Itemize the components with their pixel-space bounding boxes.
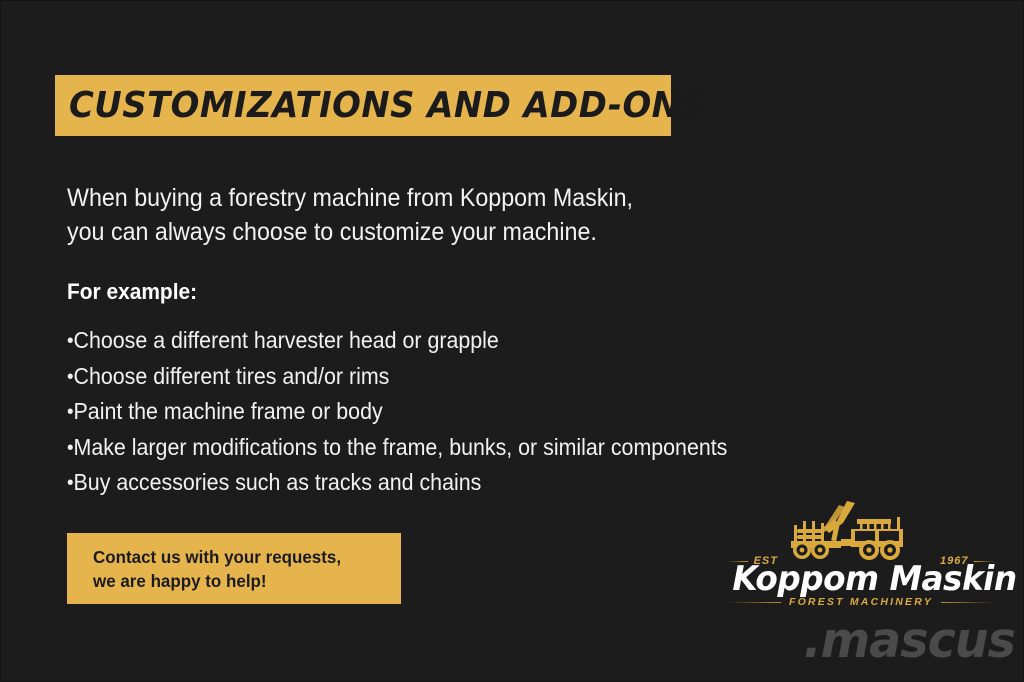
logo-wordmark: Koppom Maskin bbox=[732, 561, 989, 597]
contact-cta-box[interactable]: Contact us with your requests, we are ha… bbox=[67, 533, 401, 604]
list-item: •Choose different tires and/or rims bbox=[67, 359, 830, 395]
intro-line-2: you can always choose to customize your … bbox=[67, 215, 774, 249]
list-item-label: Make larger modifications to the frame, … bbox=[74, 434, 728, 460]
mascus-watermark: .mascus bbox=[761, 615, 1015, 667]
page-title: CUSTOMIZATIONS AND ADD-ONS bbox=[69, 88, 705, 124]
title-banner: CUSTOMIZATIONS AND ADD-ONS bbox=[55, 75, 671, 136]
logo-tagline-row: FOREST MACHINERY bbox=[727, 595, 995, 609]
forestry-forwarder-icon bbox=[777, 499, 949, 561]
intro-line-1: When buying a forestry machine from Kopp… bbox=[67, 181, 774, 215]
promotional-slide: CUSTOMIZATIONS AND ADD-ONS When buying a… bbox=[0, 0, 1024, 682]
list-item-label: Paint the machine frame or body bbox=[74, 398, 383, 424]
examples-list: •Choose a different harvester head or gr… bbox=[67, 323, 887, 501]
list-item-label: Choose different tires and/or rims bbox=[74, 363, 390, 389]
list-item: •Make larger modifications to the frame,… bbox=[67, 430, 830, 466]
tagline-divider-right bbox=[941, 602, 995, 603]
koppom-maskin-logo: EST 1967 Koppom Maskin FOREST MACHINERY bbox=[727, 499, 995, 609]
list-item: •Buy accessories such as tracks and chai… bbox=[67, 465, 830, 501]
contact-line-1: Contact us with your requests, bbox=[93, 545, 392, 569]
list-item: •Paint the machine frame or body bbox=[67, 394, 830, 430]
list-item: •Choose a different harvester head or gr… bbox=[67, 323, 830, 359]
list-item-label: Buy accessories such as tracks and chain… bbox=[74, 469, 482, 495]
intro-paragraph: When buying a forestry machine from Kopp… bbox=[67, 181, 827, 249]
logo-tagline: FOREST MACHINERY bbox=[781, 596, 941, 608]
for-example-label: For example: bbox=[67, 278, 197, 306]
tagline-divider-left bbox=[727, 602, 781, 603]
contact-line-2: we are happy to help! bbox=[93, 569, 392, 593]
list-item-label: Choose a different harvester head or gra… bbox=[74, 327, 499, 353]
